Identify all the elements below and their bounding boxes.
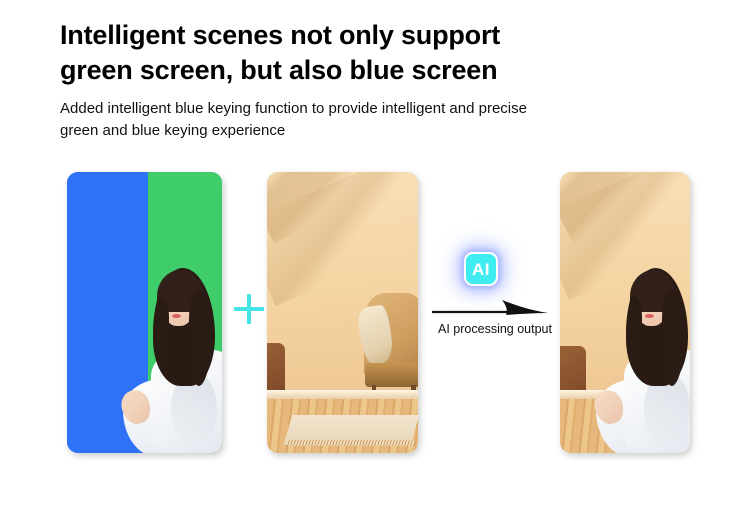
room-illustration	[267, 172, 418, 453]
background-scene-panel	[267, 172, 418, 453]
ai-badge-icon: AI	[464, 252, 498, 286]
processing-arrow-icon	[430, 298, 560, 320]
armchair	[364, 293, 418, 405]
ai-badge-label: AI	[472, 261, 490, 278]
ai-processing-block: AI AI processing output	[430, 252, 560, 352]
green-screen-backdrop	[148, 172, 222, 453]
ai-processing-caption: AI processing output	[430, 322, 560, 336]
blue-screen-backdrop	[67, 172, 148, 453]
room-baseboard	[267, 390, 418, 399]
floor-rug-fringe	[287, 440, 416, 446]
room-illustration-output	[560, 172, 690, 453]
chroma-key-source-panel	[67, 172, 222, 453]
plus-operator-icon	[234, 294, 264, 324]
composited-output-panel	[560, 172, 690, 453]
illustration-strip: AI AI processing output	[0, 0, 750, 512]
wooden-floor-output	[560, 399, 690, 453]
room-baseboard-output	[560, 390, 690, 399]
armchair-seat	[365, 363, 418, 388]
